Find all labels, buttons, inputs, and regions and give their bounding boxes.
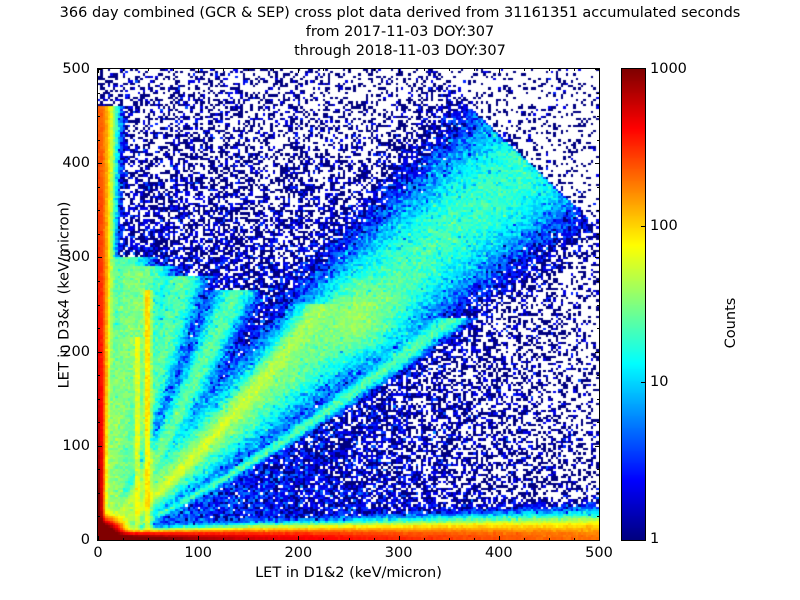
y-tick xyxy=(98,257,102,258)
y-tick-right-minor xyxy=(597,469,599,470)
x-tick xyxy=(599,536,600,540)
y-tick-right-minor xyxy=(597,328,599,329)
colorbar xyxy=(621,68,646,541)
x-tick-top-minor xyxy=(524,69,525,71)
x-tick-top-minor xyxy=(449,69,450,71)
colorbar-gradient xyxy=(622,69,645,540)
y-tick-right-minor xyxy=(597,93,599,94)
colorbar-tick-label: 100 xyxy=(650,218,678,234)
y-tick-right-minor xyxy=(597,516,599,517)
y-tick-minor xyxy=(98,375,100,376)
x-tick-minor xyxy=(574,538,575,540)
y-tick-minor xyxy=(98,422,100,423)
colorbar-tick-label: 1000 xyxy=(650,61,687,77)
x-tick-label: 0 xyxy=(93,545,102,561)
y-tick xyxy=(98,446,102,447)
plot-figure: 366 day combined (GCR & SEP) cross plot … xyxy=(0,0,800,600)
y-tick-label: 400 xyxy=(30,155,90,171)
y-tick-right-minor xyxy=(597,399,599,400)
x-tick xyxy=(198,536,199,540)
y-tick-minor xyxy=(98,93,100,94)
y-tick-right-minor xyxy=(597,210,599,211)
x-tick-top-minor xyxy=(323,69,324,71)
y-tick-right xyxy=(595,352,599,353)
x-tick-minor xyxy=(474,538,475,540)
y-tick-right-minor xyxy=(597,493,599,494)
x-axis-label: LET in D1&2 (keV/micron) xyxy=(97,565,600,581)
y-tick-right-minor xyxy=(597,234,599,235)
y-tick-label: 300 xyxy=(30,249,90,265)
y-tick-minor xyxy=(98,469,100,470)
y-tick-right xyxy=(595,69,599,70)
x-tick-label: 400 xyxy=(485,545,513,561)
y-tick-minor xyxy=(98,305,100,306)
x-tick-top xyxy=(499,69,500,73)
x-tick-top-minor xyxy=(148,69,149,71)
x-tick-minor xyxy=(273,538,274,540)
figure-title: 366 day combined (GCR & SEP) cross plot … xyxy=(0,4,800,61)
y-tick-label: 0 xyxy=(30,532,90,548)
plot-axes xyxy=(97,68,600,541)
y-tick-right-minor xyxy=(597,375,599,376)
x-tick-minor xyxy=(424,538,425,540)
x-tick-top-minor xyxy=(574,69,575,71)
y-axis-label: LET in D3&4 (keV/micron) xyxy=(57,59,73,532)
y-tick xyxy=(98,69,102,70)
x-tick-minor xyxy=(524,538,525,540)
x-tick-minor xyxy=(323,538,324,540)
x-tick-label: 300 xyxy=(385,545,413,561)
x-tick-label: 200 xyxy=(285,545,313,561)
x-tick-minor xyxy=(374,538,375,540)
x-tick-minor xyxy=(223,538,224,540)
x-tick-top-minor xyxy=(424,69,425,71)
y-tick-minor xyxy=(98,140,100,141)
x-tick-minor xyxy=(349,538,350,540)
y-tick-minor xyxy=(98,187,100,188)
y-tick-label: 200 xyxy=(30,344,90,360)
y-tick-right-minor xyxy=(597,422,599,423)
y-tick-minor xyxy=(98,281,100,282)
x-tick-minor xyxy=(449,538,450,540)
x-tick-top xyxy=(599,69,600,73)
y-tick-minor xyxy=(98,116,100,117)
x-tick-top-minor xyxy=(549,69,550,71)
x-tick-label: 500 xyxy=(585,545,613,561)
x-tick xyxy=(298,536,299,540)
y-tick-right xyxy=(595,540,599,541)
x-tick-top-minor xyxy=(123,69,124,71)
x-tick-top-minor xyxy=(248,69,249,71)
x-tick-top xyxy=(198,69,199,73)
title-line-2: from 2017-11-03 DOY:307 xyxy=(0,23,800,42)
x-tick-top-minor xyxy=(349,69,350,71)
colorbar-tick-label: 10 xyxy=(650,374,668,390)
title-line-3: through 2018-11-03 DOY:307 xyxy=(0,42,800,61)
y-tick-label: 500 xyxy=(30,61,90,77)
x-tick-top-minor xyxy=(173,69,174,71)
x-tick-label: 100 xyxy=(184,545,212,561)
y-tick-minor xyxy=(98,516,100,517)
y-tick-minor xyxy=(98,328,100,329)
x-tick-minor xyxy=(148,538,149,540)
x-tick-minor xyxy=(549,538,550,540)
y-tick-right xyxy=(595,163,599,164)
colorbar-label: Counts xyxy=(723,223,739,423)
y-tick xyxy=(98,540,102,541)
y-tick-right-minor xyxy=(597,140,599,141)
colorbar-tick xyxy=(641,226,645,227)
y-tick-right-minor xyxy=(597,305,599,306)
y-tick-minor xyxy=(98,234,100,235)
x-tick xyxy=(499,536,500,540)
x-tick-minor xyxy=(173,538,174,540)
y-tick xyxy=(98,163,102,164)
colorbar-tick-label: 1 xyxy=(650,531,659,547)
y-tick-right-minor xyxy=(597,116,599,117)
y-tick-right-minor xyxy=(597,187,599,188)
x-tick-top-minor xyxy=(474,69,475,71)
y-tick-minor xyxy=(98,493,100,494)
y-tick xyxy=(98,352,102,353)
x-tick-top xyxy=(399,69,400,73)
x-tick xyxy=(399,536,400,540)
x-tick-top-minor xyxy=(273,69,274,71)
y-tick-label: 100 xyxy=(30,438,90,454)
y-tick-right-minor xyxy=(597,281,599,282)
colorbar-tick xyxy=(641,382,645,383)
x-tick-minor xyxy=(248,538,249,540)
y-tick-minor xyxy=(98,210,100,211)
y-tick-right xyxy=(595,446,599,447)
density-heatmap xyxy=(98,69,599,540)
x-tick-top-minor xyxy=(374,69,375,71)
y-tick-minor xyxy=(98,399,100,400)
title-line-1: 366 day combined (GCR & SEP) cross plot … xyxy=(0,4,800,23)
x-tick-minor xyxy=(123,538,124,540)
x-tick-top-minor xyxy=(223,69,224,71)
x-tick-top xyxy=(298,69,299,73)
y-tick-right xyxy=(595,257,599,258)
